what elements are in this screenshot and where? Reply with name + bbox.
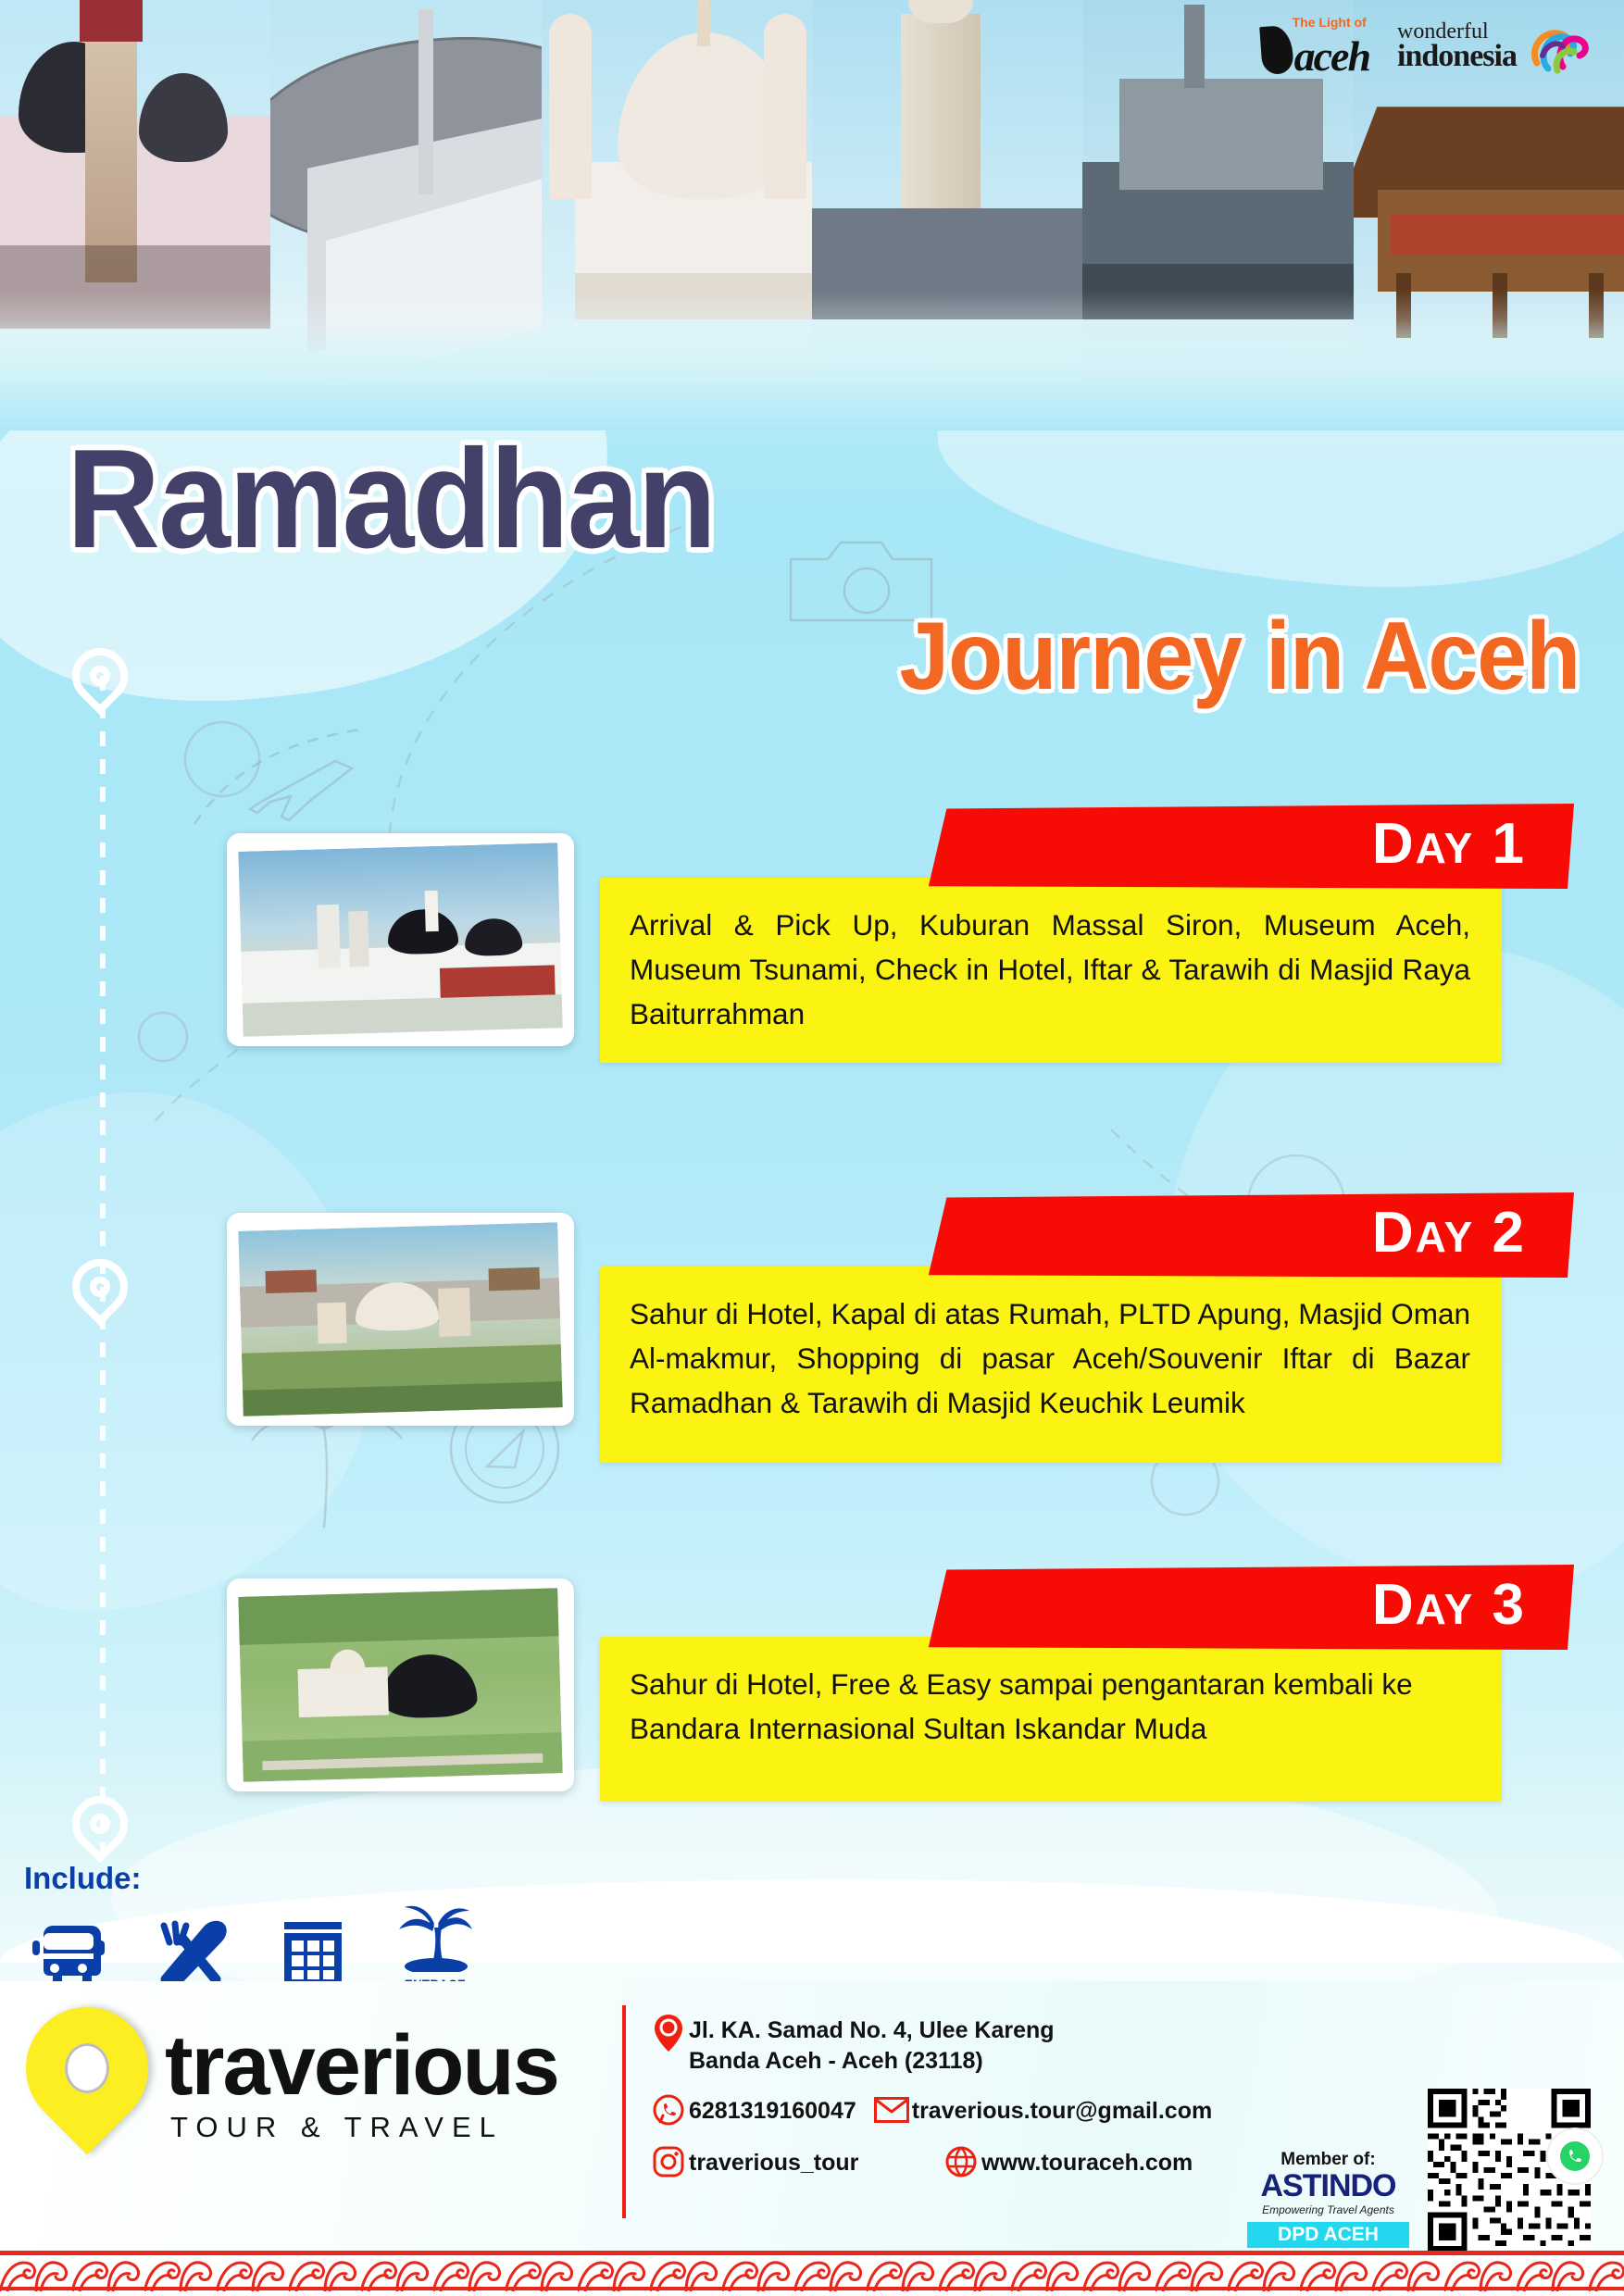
page-subtitle: Journey in Aceh [899,611,1580,703]
whatsapp-qr-badge-icon [1548,2129,1602,2183]
bus-icon [24,1915,113,1987]
day-2-photo [227,1213,574,1426]
cutlery-icon [146,1915,235,1987]
contact-instagram[interactable]: traverious_tour [648,2141,926,2182]
whatsapp-number: 6281319160047 [689,2093,856,2127]
astindo-branch: DPD ACEH [1247,2222,1409,2248]
photo-band-fade [0,319,1624,430]
globe-icon [941,2141,981,2182]
day-3-photo-image [233,1583,568,1787]
astindo-member-label: Member of: [1247,2150,1409,2170]
footer: traverious TOUR & TRAVEL Jl. KA. Samad N… [0,1981,1624,2296]
brand-tagline: TOUR & TRAVEL [170,2111,558,2144]
day-1-photo-image [233,838,568,1042]
address-line-2: Banda Aceh - Aceh (23118) [689,2046,1055,2077]
day-1-banner-label: DAY 1 [1372,811,1574,877]
day-3-banner-label: DAY 3 [1372,1572,1574,1638]
astindo-badge: Member of: ASTINDO Empowering Travel Age… [1247,2150,1409,2248]
route-pin [72,1259,128,1331]
contact-address: Jl. KA. Samad No. 4, Ulee Kareng Banda A… [648,2013,1204,2077]
envelope-icon [871,2090,912,2130]
palm-tree-icon [391,1900,480,1972]
day-1-banner: DAY 1 [926,804,1574,889]
map-pin-icon [26,2007,148,2165]
aceh-flame-icon [1259,25,1294,75]
whatsapp-icon [648,2090,689,2130]
day-3-description: Sahur di Hotel, Free & Easy sampai penga… [600,1637,1502,1776]
wonderful-indonesia-logo: wonderful indonesia [1397,19,1591,74]
contact-whatsapp[interactable]: 6281319160047 [648,2090,856,2130]
header-logos: The Light of aceh wonderful indonesia [1261,15,1591,74]
contact-email[interactable]: traverious.tour@gmail.com [871,2090,1212,2130]
brand-logo: traverious TOUR & TRAVEL [26,2007,558,2165]
doodle-plane [176,713,380,842]
route-pin [72,1796,128,1868]
aceh-logo-word: aceh [1294,38,1369,74]
address-line-1: Jl. KA. Samad No. 4, Ulee Kareng [689,2015,1055,2046]
location-pin-icon [648,2013,689,2053]
day-3-banner: DAY 3 [926,1565,1574,1650]
day-1-photo [227,833,574,1046]
day-1-description-box: Arrival & Pick Up, Kuburan Massal Siron,… [600,878,1502,1063]
day-3-photo [227,1578,574,1791]
day-2-banner-label: DAY 2 [1372,1200,1574,1266]
astindo-name: ASTINDO [1247,2170,1409,2202]
route-pin [72,648,128,720]
website-url: www.touraceh.com [981,2145,1193,2178]
aceh-motif-pattern [0,2255,1624,2291]
day-2-description-box: Sahur di Hotel, Kapal di atas Rumah, PLT… [600,1267,1502,1463]
day-2-banner: DAY 2 [926,1192,1574,1278]
email-address: traverious.tour@gmail.com [912,2093,1212,2127]
day-1-description: Arrival & Pick Up, Kuburan Massal Siron,… [600,878,1502,1061]
poster: The Light of aceh wonderful indonesia Ra… [0,0,1624,2296]
instagram-icon [648,2141,689,2182]
footer-divider [622,2005,626,2218]
day-2-description: Sahur di Hotel, Kapal di atas Rumah, PLT… [600,1267,1502,1450]
bottom-ornament-strip [0,2251,1624,2296]
astindo-subtitle: Empowering Travel Agents [1247,2203,1409,2216]
include-title: Include: [24,1861,480,1896]
hotel-icon [269,1915,357,1987]
page-title: Ramadhan [67,435,715,565]
instagram-handle: traverious_tour [689,2145,858,2178]
contact-website[interactable]: www.touraceh.com [941,2141,1193,2182]
contact-info: Jl. KA. Samad No. 4, Ulee Kareng Banda A… [648,2013,1204,2193]
brand-name: traverious [165,2028,558,2104]
day-3-description-box: Sahur di Hotel, Free & Easy sampai penga… [600,1637,1502,1802]
day-2-photo-image [233,1217,568,1421]
wonderful-indonesia-mark-icon [1520,19,1591,74]
wonderful-indonesia-word2: indonesia [1397,43,1517,71]
aceh-logo: The Light of aceh [1261,15,1369,74]
